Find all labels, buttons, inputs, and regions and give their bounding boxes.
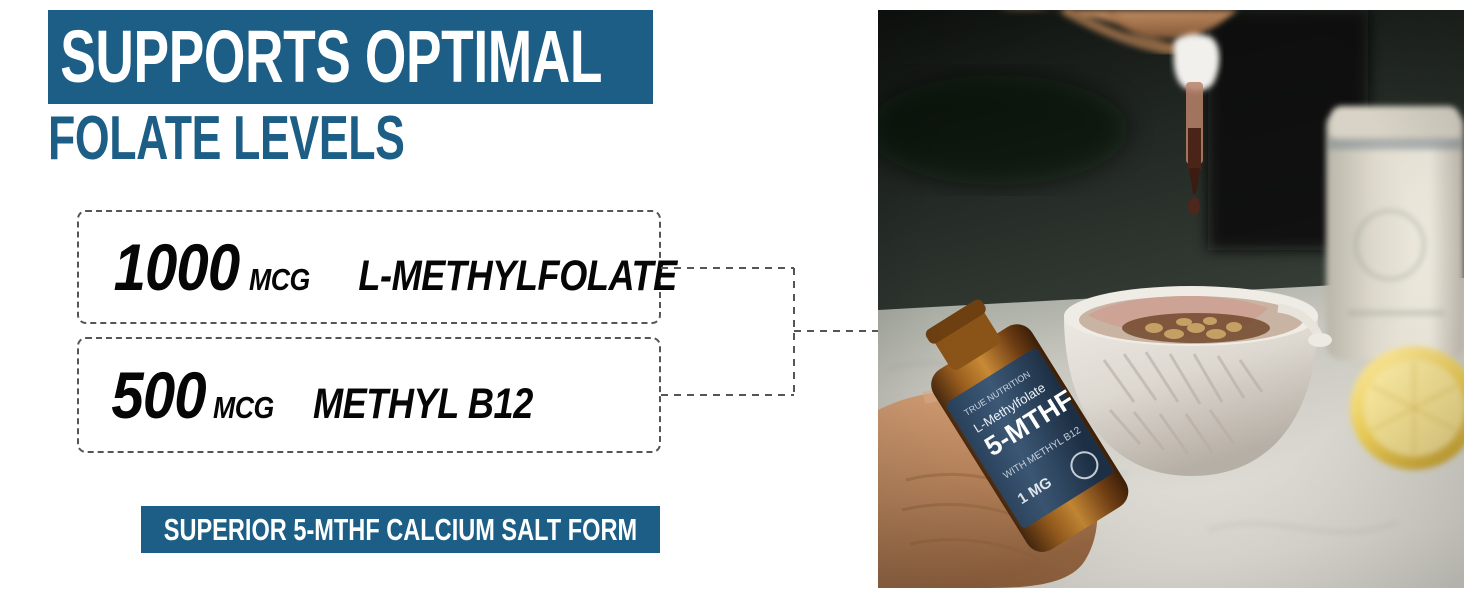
footer-banner: SUPERIOR 5-MTHF CALCIUM SALT FORM	[141, 506, 660, 553]
photo-artwork: TRUE NUTRITION L-Methylfolate 5-MTHF WIT…	[878, 10, 1464, 588]
photo-vignette	[878, 10, 1464, 588]
headline-line-2: FOLATE LEVELS	[48, 108, 405, 170]
dose-box: 500 MCG METHYL B12	[77, 337, 661, 453]
dose-amount: 500	[111, 362, 205, 428]
dose-amount: 1000	[114, 234, 240, 300]
dose-content: 1000 MCG L-METHYLFOLATE	[79, 234, 707, 300]
infographic-canvas: SUPPORTS OPTIMAL FOLATE LEVELS 1000 MCG …	[0, 0, 1464, 600]
footer-banner-label: SUPERIOR 5-MTHF CALCIUM SALT FORM	[164, 514, 637, 545]
dose-unit: MCG	[249, 264, 310, 295]
dose-unit: MCG	[213, 392, 274, 423]
headline-banner: SUPPORTS OPTIMAL	[48, 10, 653, 104]
dose-content: 500 MCG METHYL B12	[79, 362, 554, 428]
dose-ingredient-name: METHYL B12	[313, 383, 533, 426]
product-lifestyle-photo: TRUE NUTRITION L-Methylfolate 5-MTHF WIT…	[878, 10, 1464, 588]
headline-line-1: SUPPORTS OPTIMAL	[48, 20, 602, 94]
dose-ingredient-name: L-METHYLFOLATE	[358, 255, 676, 298]
dose-box: 1000 MCG L-METHYLFOLATE	[77, 210, 661, 324]
